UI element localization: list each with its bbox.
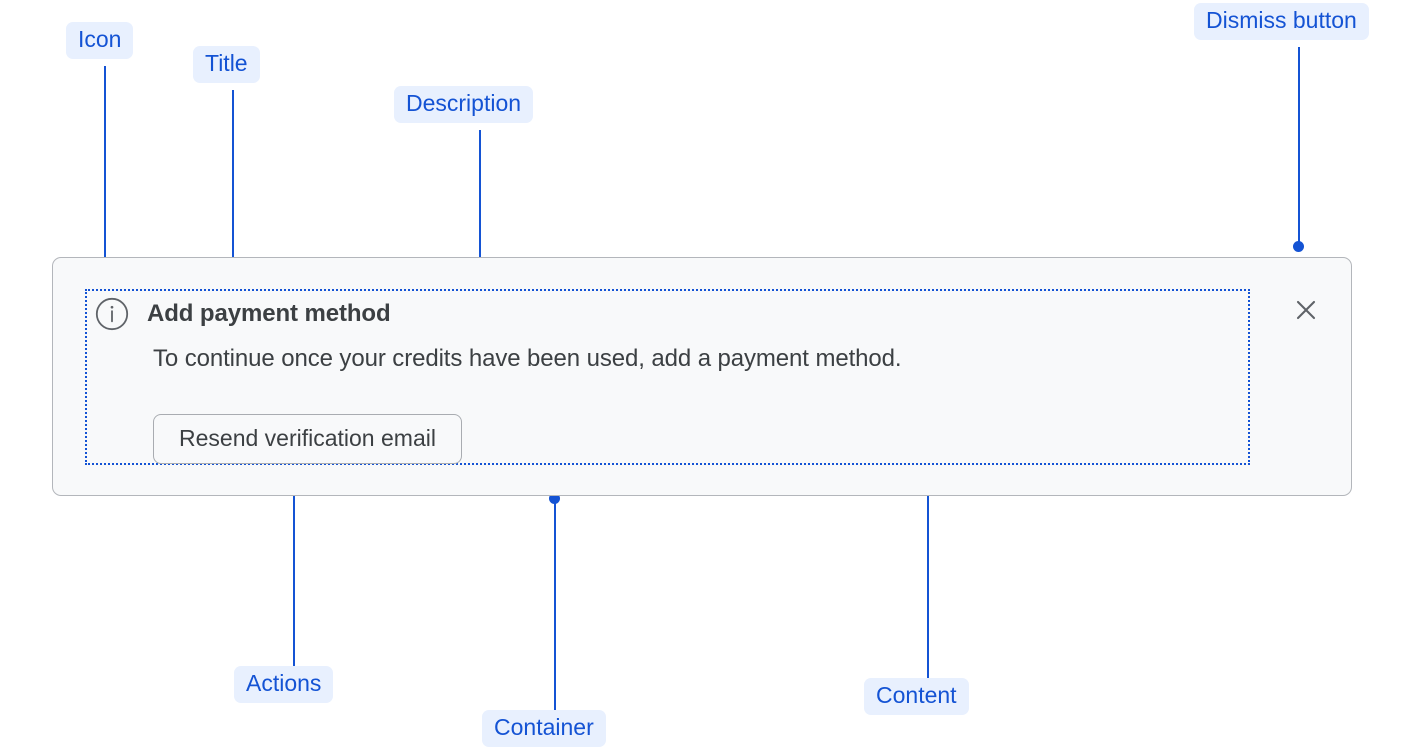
alert-actions: Resend verification email [153, 414, 462, 464]
annotation-label-title: Title [193, 46, 260, 83]
alert-description: To continue once your credits have been … [153, 345, 901, 373]
annotation-line-icon [104, 66, 106, 270]
annotation-line-container [554, 503, 556, 710]
annotation-line-content [927, 470, 929, 678]
resend-verification-email-button[interactable]: Resend verification email [153, 414, 462, 464]
alert-title: Add payment method [147, 300, 391, 328]
annotation-dot-dismiss-button [1293, 241, 1304, 252]
annotation-label-dismiss-button: Dismiss button [1194, 3, 1369, 40]
alert-content: Add payment method To continue once your… [85, 289, 1250, 465]
annotation-label-content: Content [864, 678, 969, 715]
annotation-line-dismiss-button [1298, 47, 1300, 246]
alert-container: Add payment method To continue once your… [52, 257, 1352, 496]
close-icon [1293, 297, 1319, 326]
dismiss-button[interactable] [1289, 294, 1323, 328]
annotation-label-actions: Actions [234, 666, 333, 703]
info-circle-icon [95, 297, 129, 331]
annotation-label-icon: Icon [66, 22, 133, 59]
annotation-label-container: Container [482, 710, 606, 747]
alert-header: Add payment method [95, 297, 391, 331]
annotation-label-description: Description [394, 86, 533, 123]
